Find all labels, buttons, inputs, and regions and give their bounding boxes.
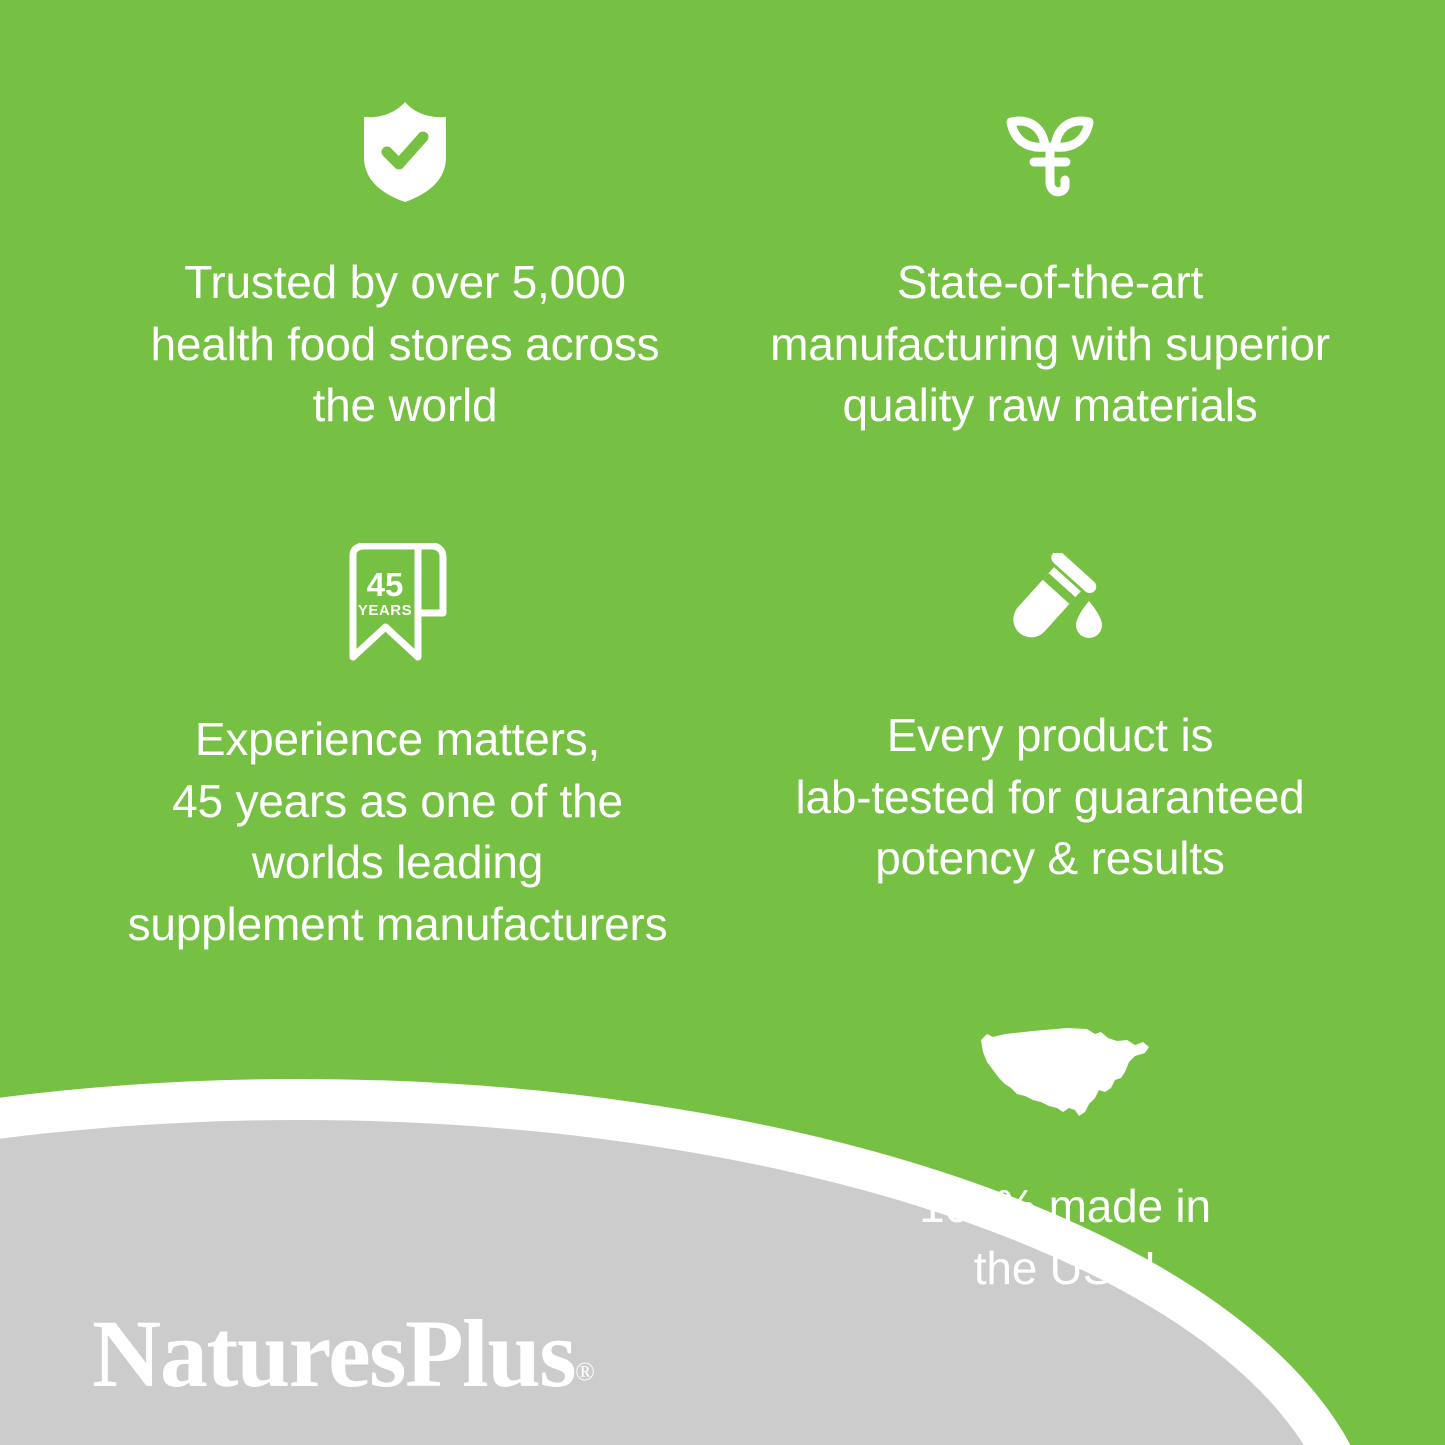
ribbon-number: 45: [366, 566, 403, 603]
feature-text: Trusted by over 5,000 health food stores…: [151, 252, 660, 437]
feature-text: Every product is lab-tested for guarante…: [795, 705, 1304, 890]
usa-map-icon: [975, 1020, 1155, 1124]
registered-trademark-icon: ®: [575, 1357, 595, 1386]
feature-text: State-of-the-art manufacturing with supe…: [770, 252, 1330, 437]
ribbon-caption: YEARS: [357, 602, 411, 619]
sprout-icon: [1001, 100, 1099, 204]
brand-logo: NaturesPlus®: [92, 1306, 595, 1402]
feature-made-in-usa: 100% made in the USA!: [735, 1020, 1395, 1299]
ribbon-45-years-icon: 45 YEARS: [344, 543, 452, 661]
feature-lab-tested: Every product is lab-tested for guarante…: [700, 553, 1400, 890]
promo-banner: Trusted by over 5,000 health food stores…: [0, 0, 1445, 1445]
feature-text: 100% made in the USA!: [919, 1176, 1211, 1299]
feature-experience-45-years: 45 YEARS Experience matters, 45 years as…: [40, 543, 755, 956]
feature-trusted-stores: Trusted by over 5,000 health food stores…: [55, 100, 755, 437]
test-tube-droplet-icon: [994, 553, 1106, 653]
feature-text: Experience matters, 45 years as one of t…: [128, 709, 668, 956]
shield-check-icon: [359, 100, 451, 204]
brand-logo-text: NaturesPlus: [92, 1300, 575, 1407]
feature-state-of-the-art: State-of-the-art manufacturing with supe…: [700, 100, 1400, 437]
